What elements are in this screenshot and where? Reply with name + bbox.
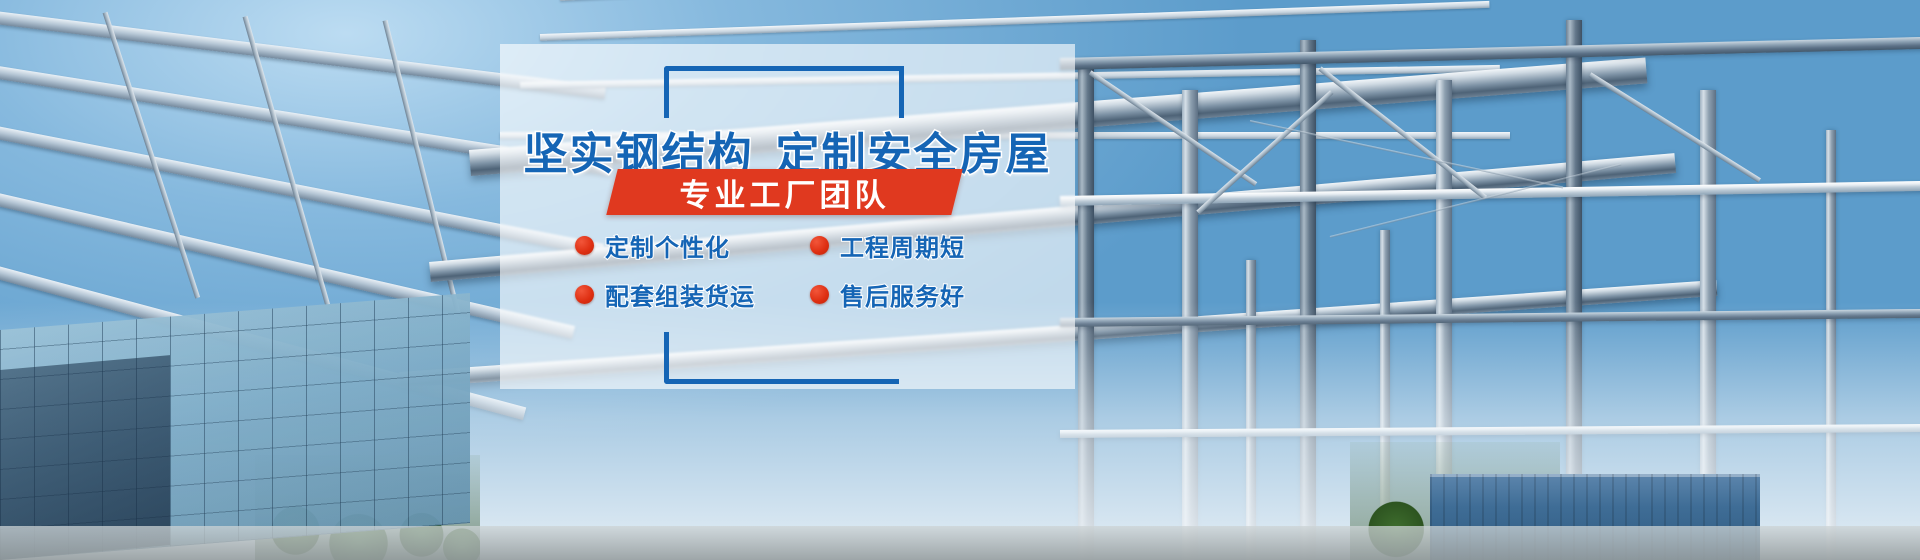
feature-item: 工程周期短 [810, 228, 1015, 263]
feature-label: 工程周期短 [840, 228, 965, 263]
red-dot-icon [810, 236, 829, 255]
ribbon-label: 专业工厂团队 [612, 169, 957, 215]
red-dot-icon [575, 285, 594, 304]
feature-label: 售后服务好 [840, 277, 965, 312]
hero-banner: 坚实钢结构定制安全房屋 专业工厂团队 定制个性化 工程周期短 配套组装货运 售后… [0, 0, 1920, 560]
feature-list: 定制个性化 工程周期短 配套组装货运 售后服务好 [575, 228, 1015, 312]
red-dot-icon [575, 236, 594, 255]
red-dot-icon [810, 285, 829, 304]
bracket-top-right-icon [899, 66, 904, 118]
feature-label: 定制个性化 [605, 228, 730, 263]
feature-label: 配套组装货运 [605, 277, 755, 312]
bracket-bottom-left-icon [664, 332, 899, 384]
bracket-top-left-icon [664, 66, 899, 118]
feature-item: 配套组装货运 [575, 277, 780, 312]
feature-item: 售后服务好 [810, 277, 1015, 312]
ground-strip [0, 526, 1920, 560]
feature-item: 定制个性化 [575, 228, 780, 263]
